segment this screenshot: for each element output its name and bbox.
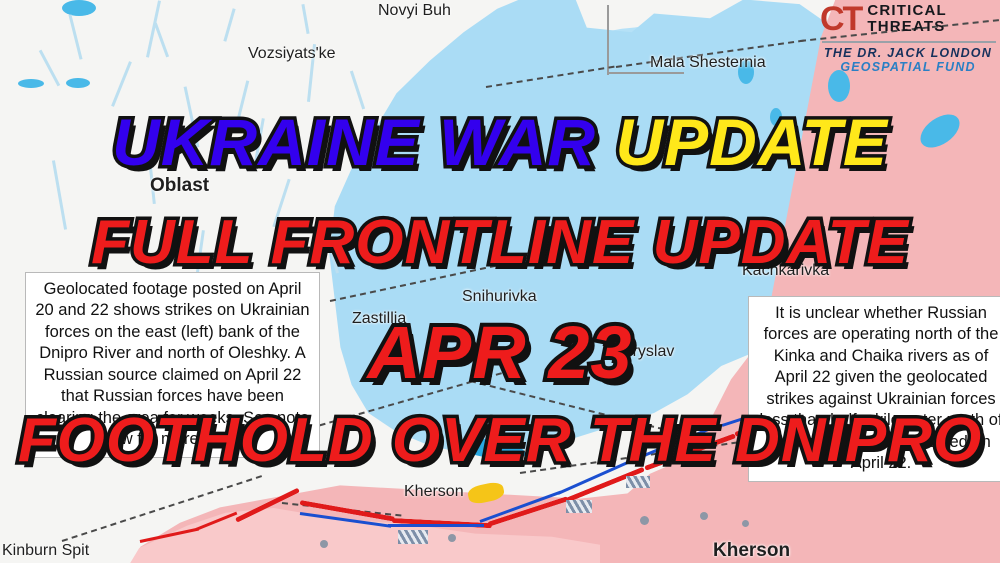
ct-monogram-icon: CT: [820, 2, 861, 36]
map-label-novyi-buh-0: Novyi Buh: [378, 2, 451, 20]
water-body-small-3: [770, 108, 782, 126]
map-label-beryslav-7: Beryslav: [613, 343, 674, 361]
callout-box-left: Geolocated footage posted on April 20 an…: [25, 272, 320, 458]
water-body-small-6: [18, 79, 44, 88]
logo-divider: [822, 41, 996, 43]
assessed-advance-hatch: [626, 476, 650, 488]
callout-left-text: Geolocated footage posted on April 20 an…: [35, 279, 310, 451]
map-label-snihurivka-5: Snihurivka: [462, 288, 537, 306]
oblast-border: [607, 5, 609, 75]
map-label-zastillia-6: Zastillia: [352, 310, 406, 328]
settlement-dot: [742, 520, 749, 527]
ukraine-bank-line: [388, 524, 484, 527]
map-label-oblast-3: Oblast: [150, 175, 209, 197]
map-label-kherson-8: Kherson: [404, 483, 464, 501]
logo-name-line1: CRITICAL: [867, 3, 947, 19]
settlement-dot: [448, 534, 456, 542]
callout-box-right: It is unclear whether Russian forces are…: [748, 296, 1000, 482]
map-label-vozsiyats-ke-1: Vozsiyats'ke: [248, 45, 336, 63]
logo-sub-line1: THE DR. JACK LONDON: [820, 46, 996, 60]
assessed-advance-hatch: [566, 500, 592, 513]
water-body-small-5: [66, 78, 90, 88]
settlement-dot: [700, 512, 708, 520]
oblast-border: [608, 72, 684, 74]
logo-name-line2: THREATS: [867, 19, 947, 35]
map-label-kinburn-spit-9: Kinburn Spit: [2, 542, 89, 560]
map-label-mala-shesternia-2: Mala Shesternia: [650, 54, 766, 72]
map-label-kachkarivka-4: Kachkarivka: [742, 262, 829, 280]
logo-sub-line2: GEOSPATIAL FUND: [820, 60, 996, 74]
settlement-dot: [640, 516, 649, 525]
settlement-dot: [320, 540, 328, 548]
critical-threats-logo: CT CRITICAL THREATS THE DR. JACK LONDON …: [820, 2, 996, 74]
map-label-kherson-10: Kherson: [713, 540, 790, 562]
callout-right-text: It is unclear whether Russian forces are…: [758, 303, 1000, 475]
assessed-advance-hatch: [398, 530, 428, 544]
water-body-small-4: [62, 0, 96, 16]
water-body-small-2: [828, 70, 850, 102]
screenshot-canvas: Novyi BuhVozsiyats'keMala ShesterniaObla…: [0, 0, 1000, 563]
